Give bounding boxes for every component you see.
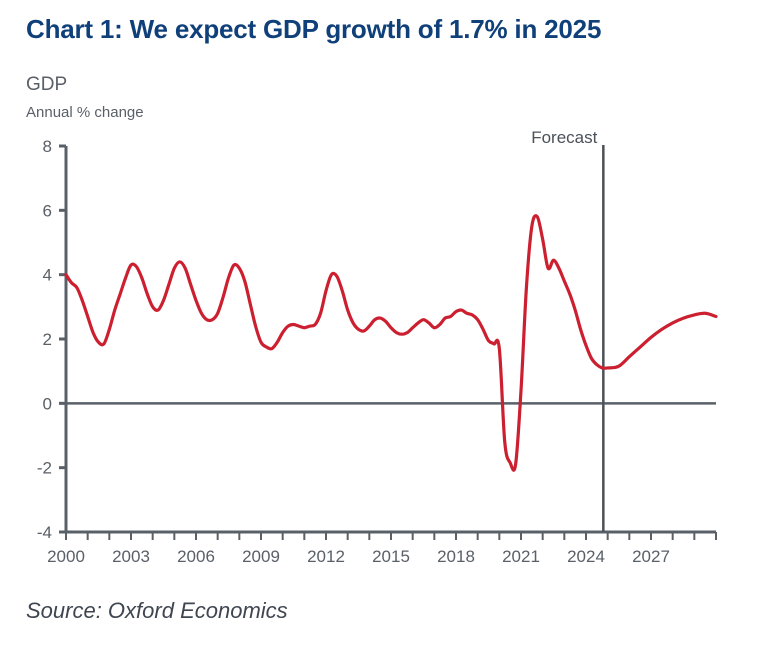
x-axis-tick-label: 2027 bbox=[632, 547, 670, 566]
chart-plot: 86420-2-42000200320062009201220152018202… bbox=[0, 0, 774, 580]
x-axis-tick-label: 2003 bbox=[112, 547, 150, 566]
x-axis-tick-label: 2015 bbox=[372, 547, 410, 566]
y-axis-tick-label: -2 bbox=[37, 459, 52, 478]
x-axis-tick-label: 2006 bbox=[177, 547, 215, 566]
y-axis-tick-label: -4 bbox=[37, 523, 52, 542]
x-axis-tick-label: 2009 bbox=[242, 547, 280, 566]
gdp-line-series bbox=[66, 216, 716, 471]
y-axis-tick-label: 4 bbox=[43, 266, 52, 285]
source-note: Source: Oxford Economics bbox=[26, 598, 288, 624]
y-axis-tick-label: 8 bbox=[43, 137, 52, 156]
x-axis-tick-label: 2021 bbox=[502, 547, 540, 566]
forecast-divider: Forecast bbox=[531, 128, 603, 532]
gdp-line-path bbox=[66, 216, 716, 471]
x-axis-tick-label: 2024 bbox=[567, 547, 605, 566]
x-axis-tick-label: 2000 bbox=[47, 547, 85, 566]
x-axis-tick-label: 2012 bbox=[307, 547, 345, 566]
y-axis-tick-label: 0 bbox=[43, 394, 52, 413]
chart-tick-labels: 86420-2-42000200320062009201220152018202… bbox=[37, 137, 670, 566]
chart-axes bbox=[59, 146, 716, 540]
y-axis-tick-label: 6 bbox=[43, 201, 52, 220]
y-axis-tick-label: 2 bbox=[43, 330, 52, 349]
chart-page: Chart 1: We expect GDP growth of 1.7% in… bbox=[0, 0, 774, 647]
forecast-label: Forecast bbox=[531, 128, 597, 147]
x-axis-tick-label: 2018 bbox=[437, 547, 475, 566]
